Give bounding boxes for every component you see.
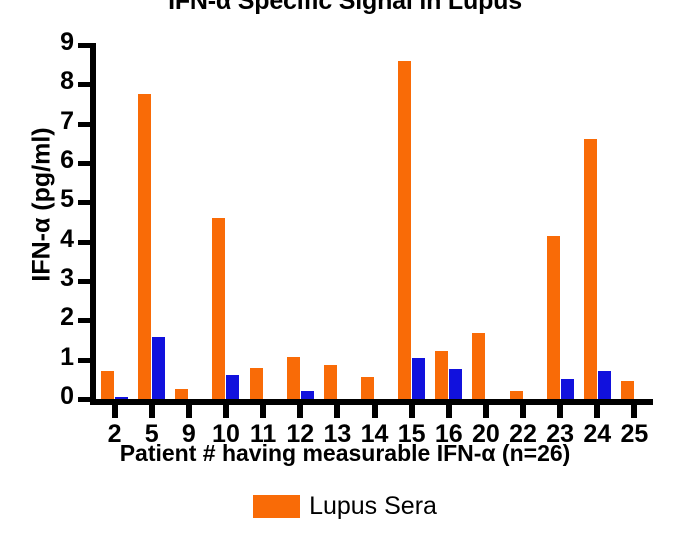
x-axis-tick	[557, 405, 563, 418]
y-axis-tick-label: 8	[44, 67, 74, 95]
bar	[621, 381, 634, 399]
y-axis-tick-label: 3	[44, 264, 74, 292]
y-axis-tick-label: 4	[44, 225, 74, 253]
bar	[301, 391, 314, 399]
y-axis-tick-label: 1	[44, 343, 74, 371]
bar	[361, 377, 374, 399]
x-axis-title: Patient # having measurable IFN-α (n=26)	[0, 440, 690, 467]
bar	[472, 333, 485, 399]
y-axis-tick: 8	[78, 82, 90, 87]
y-axis-tick-label: 0	[44, 382, 74, 410]
bar	[561, 379, 574, 399]
bar	[398, 61, 411, 399]
x-axis-tick	[223, 405, 229, 418]
bar	[449, 369, 462, 399]
y-axis-tick: 1	[78, 358, 90, 363]
bar	[138, 94, 151, 399]
bar	[226, 375, 239, 399]
x-axis-tick	[334, 405, 340, 418]
x-axis-tick	[372, 405, 378, 418]
bar	[212, 218, 225, 399]
bar	[412, 358, 425, 399]
x-axis-tick	[297, 405, 303, 418]
bar	[547, 236, 560, 399]
x-axis-tick	[446, 405, 452, 418]
y-axis-tick: 2	[78, 318, 90, 323]
chart-legend: Lupus Sera	[0, 492, 690, 520]
bar	[175, 389, 188, 399]
y-axis-line	[90, 43, 96, 401]
x-axis-tick	[594, 405, 600, 418]
bar	[598, 371, 611, 399]
legend-label: Lupus Sera	[309, 492, 437, 520]
y-axis-tick: 4	[78, 240, 90, 245]
bar	[435, 351, 448, 399]
y-axis-tick-label: 5	[44, 185, 74, 213]
plot-area: 0123456789 259101112131415162022232425	[96, 45, 653, 399]
y-axis-tick: 5	[78, 200, 90, 205]
bar	[287, 357, 300, 399]
bar	[152, 337, 165, 399]
x-axis-tick	[409, 405, 415, 418]
x-axis-tick	[149, 405, 155, 418]
bar	[510, 391, 523, 399]
x-axis-tick	[260, 405, 266, 418]
bar	[584, 139, 597, 399]
x-axis-tick	[483, 405, 489, 418]
legend-swatch	[253, 495, 300, 518]
bar	[324, 365, 337, 399]
y-axis-tick: 3	[78, 279, 90, 284]
chart-figure: IFN-α Specific Signal in Lupus IFN-α (pg…	[0, 0, 690, 550]
bar	[115, 397, 128, 399]
chart-title: IFN-α Specific Signal in Lupus	[0, 0, 690, 15]
x-axis-tick	[520, 405, 526, 418]
y-axis-tick-label: 7	[44, 107, 74, 135]
y-axis-tick-label: 6	[44, 146, 74, 174]
bar	[101, 371, 114, 399]
y-axis-tick: 6	[78, 161, 90, 166]
bar	[250, 368, 263, 399]
y-axis-tick: 0	[78, 397, 90, 402]
x-axis-tick	[186, 405, 192, 418]
y-axis-tick-label: 2	[44, 303, 74, 331]
x-axis-tick	[631, 405, 637, 418]
y-axis-tick: 7	[78, 122, 90, 127]
y-axis-tick-label: 9	[44, 28, 74, 56]
y-axis-tick: 9	[78, 43, 90, 48]
x-axis-tick	[112, 405, 118, 418]
